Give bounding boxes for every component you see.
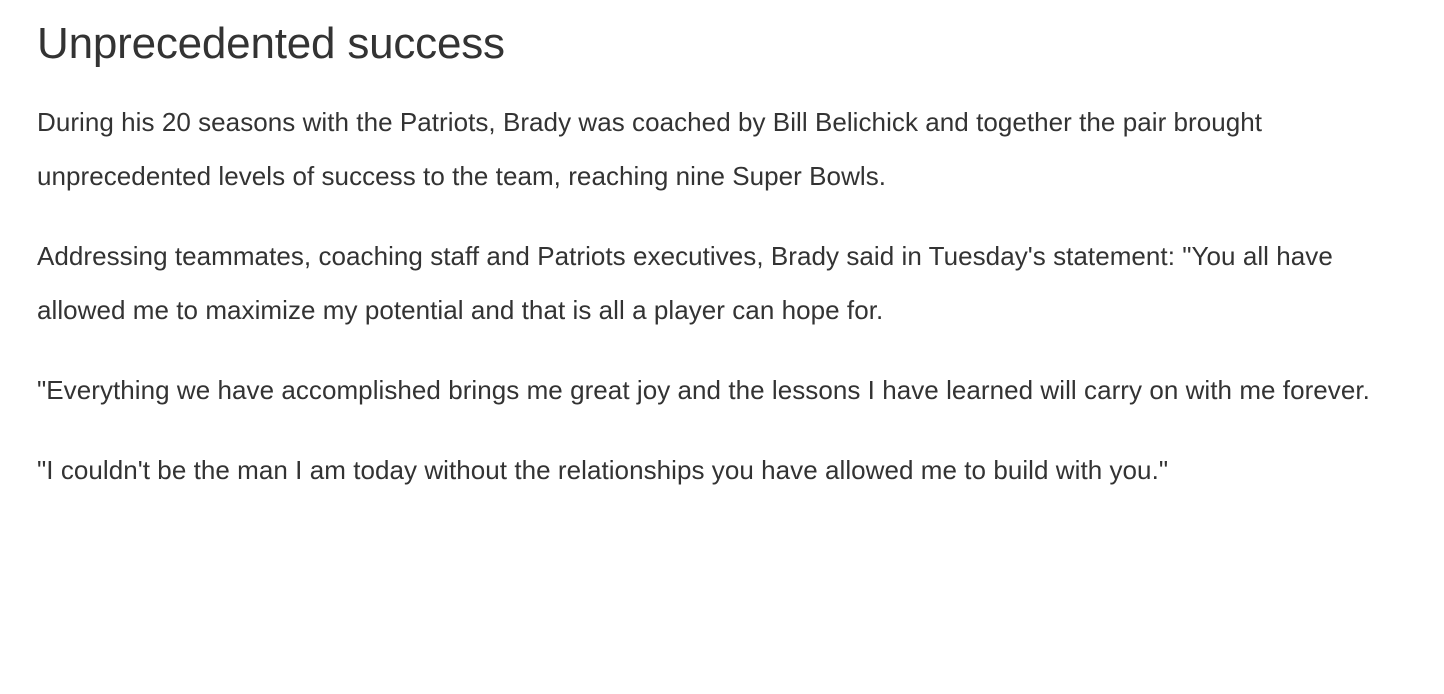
page-title: Unprecedented success: [37, 0, 1407, 70]
article-paragraph: Addressing teammates, coaching staff and…: [37, 229, 1407, 337]
article-paragraph: "Everything we have accomplished brings …: [37, 363, 1407, 417]
article-paragraph: "I couldn't be the man I am today withou…: [37, 443, 1407, 497]
article-paragraph: During his 20 seasons with the Patriots,…: [37, 95, 1407, 203]
article-body: During his 20 seasons with the Patriots,…: [37, 95, 1407, 497]
article-container: Unprecedented success During his 20 seas…: [0, 0, 1444, 497]
